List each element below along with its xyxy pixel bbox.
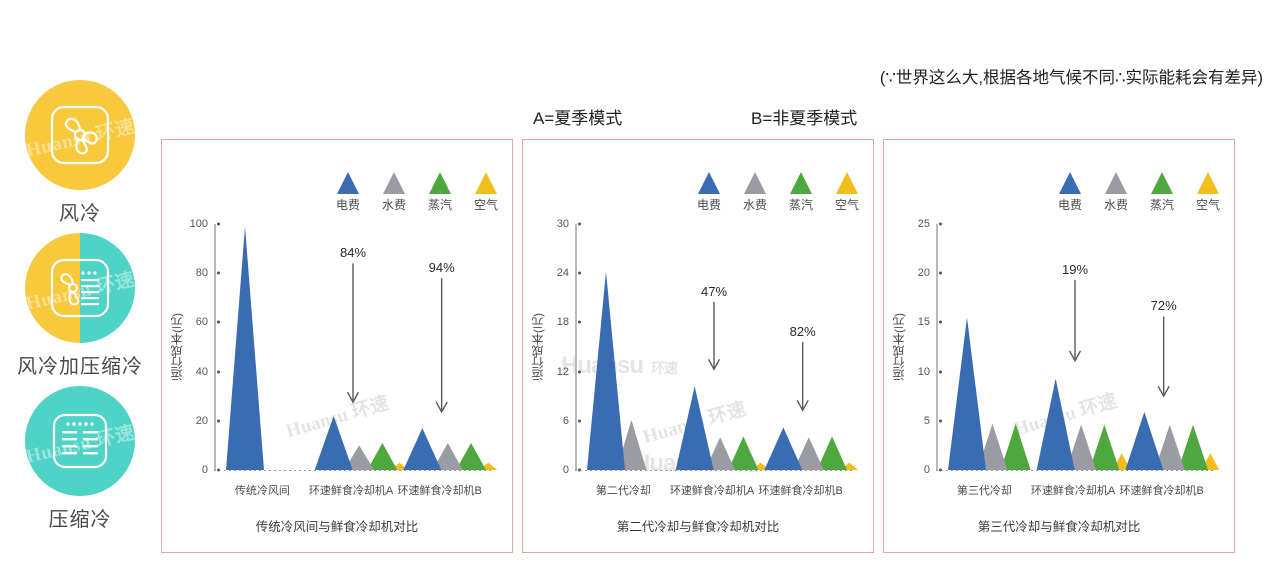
icon-caption: 压缩冷 (0, 503, 160, 532)
data-triangle-steam (817, 436, 847, 470)
data-triangle-steam (1001, 424, 1031, 470)
reduction-percentage-label: 19% (1062, 262, 1088, 277)
plate-icon (43, 404, 117, 478)
data-triangle-electricity (764, 427, 802, 470)
data-triangle-steam (367, 443, 397, 470)
data-triangle-electricity (587, 272, 625, 470)
reduction-percentage-label: 47% (701, 284, 727, 299)
fan-plus-plate-icon-circle: Huansu 环速 (25, 233, 135, 343)
icon-rail: Huansu 环速 风冷 Huansu 环速 (0, 80, 160, 539)
icon-block-compression-cooling: Huansu 环速 压缩冷 (0, 386, 160, 532)
icon-caption: 风冷 (0, 197, 160, 226)
reduction-percentage-label: 72% (1151, 298, 1177, 313)
x-tick-label: 环速鲜食冷却机A (670, 482, 754, 498)
icon-block-air-plus-compression: Huansu 环速 风冷加压缩冷 (0, 233, 160, 379)
x-tick-label: 环速鲜食冷却机B (397, 482, 481, 498)
x-tick-label: 第二代冷却 (596, 482, 651, 498)
plate-icon-circle: Huansu 环速 (25, 386, 135, 496)
x-tick-label: 第三代冷却 (957, 482, 1012, 498)
chart-panel-2: 电费水费蒸汽空气Huansu 环速Huansu环速Huansu环速运行成本(元)… (522, 139, 874, 553)
reduction-percentage-label: 94% (429, 260, 455, 275)
infographic-root: Huansu 环速 风冷 Huansu 环速 (0, 0, 1269, 571)
data-triangle-electricity (226, 226, 264, 470)
x-tick-label: 环速鲜食冷却机A (309, 482, 393, 498)
data-triangle-steam (728, 436, 758, 470)
data-triangle-electricity (315, 416, 353, 470)
chart-title: 第三代冷却与鲜食冷却机对比 (884, 516, 1234, 535)
chart-title: 第二代冷却与鲜食冷却机对比 (523, 516, 873, 535)
fan-plus-plate-icon (43, 251, 117, 325)
x-tick-label: 传统冷风间 (235, 482, 290, 498)
data-triangle-steam (1178, 425, 1208, 470)
icon-block-air-cooling: Huansu 环速 风冷 (0, 80, 160, 226)
climate-note: (∵世界这么大,根据各地气候不同∴实际能耗会有差异) (880, 64, 1263, 88)
chart-panel-3: 电费水费蒸汽空气Huansu 环速运行成本(元)0510152025第三代冷却环… (883, 139, 1235, 553)
x-tick-label: 环速鲜食冷却机B (1119, 482, 1203, 498)
data-triangle-electricity (1125, 412, 1163, 470)
data-triangle-electricity (948, 317, 986, 470)
mode-a-label: A=夏季模式 (533, 104, 622, 129)
data-triangle-electricity (676, 386, 714, 470)
fan-icon-circle: Huansu 环速 (25, 80, 135, 190)
data-triangle-steam (1089, 425, 1119, 470)
x-tick-label: 环速鲜食冷却机B (758, 482, 842, 498)
x-tick-label: 环速鲜食冷却机A (1031, 482, 1115, 498)
reduction-percentage-label: 82% (790, 324, 816, 339)
reduction-percentage-label: 84% (340, 245, 366, 260)
data-triangle-electricity (1037, 378, 1075, 470)
chart-panel-1: 电费水费蒸汽空气Huansu 环速运行成本(元)020406080100传统冷风… (161, 139, 513, 553)
chart-title: 传统冷风间与鲜食冷却机对比 (162, 516, 512, 535)
chart-panels: 电费水费蒸汽空气Huansu 环速运行成本(元)020406080100传统冷风… (161, 139, 1261, 553)
icon-caption: 风冷加压缩冷 (0, 350, 160, 379)
fan-icon (43, 98, 117, 172)
mode-b-label: B=非夏季模式 (751, 104, 857, 129)
data-triangle-electricity (403, 428, 441, 470)
